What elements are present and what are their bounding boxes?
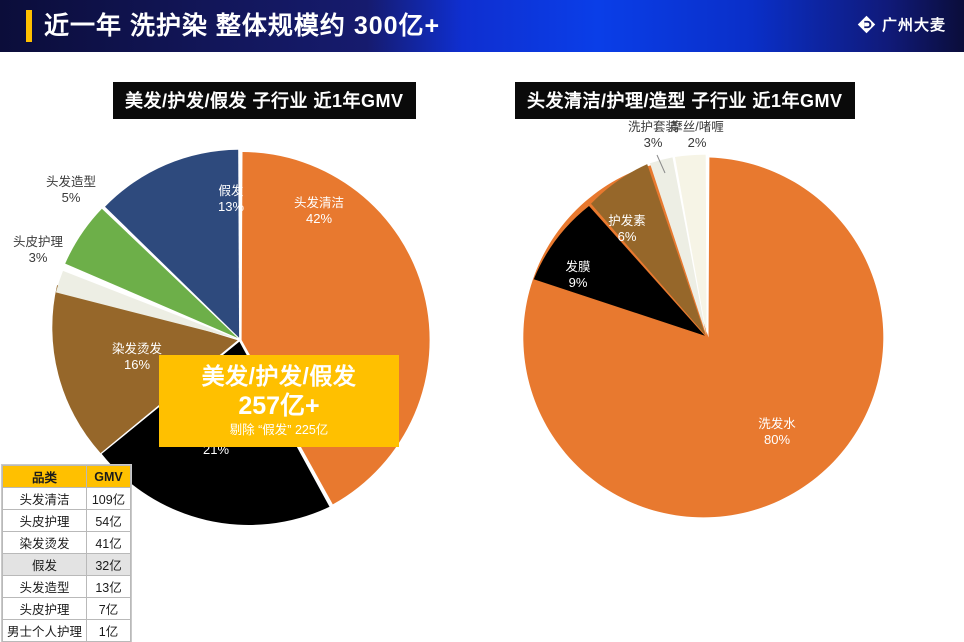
cell-category: 假发	[3, 554, 87, 576]
table-header-row: 品类 GMV	[3, 466, 131, 488]
pie-label-right-3: 洗护套装 3%	[610, 120, 696, 150]
cell-gmv: 13亿	[87, 576, 131, 598]
left-data-table: 品类 GMV 头发清洁 109亿 头皮护理 54亿 染发烫发 41亿	[2, 465, 131, 642]
right-pie-chart: 洗发水 80% 发膜 9% 护发素 6% 洗护套装 3% 摩丝/啫喱 2%	[517, 147, 897, 527]
cell-gmv: 7亿	[87, 598, 131, 620]
page-title: 近一年 洗护染 整体规模约 300亿+	[44, 9, 440, 43]
column-header-category: 品类	[3, 466, 87, 488]
slide-canvas: 近一年 洗护染 整体规模约 300亿+ 广州大麦 美发/护发/假发 子行业 近1…	[0, 0, 964, 543]
brand-logo: 广州大麦	[857, 14, 946, 35]
logo-diamond-icon	[857, 15, 876, 34]
cell-gmv: 32亿	[87, 554, 131, 576]
cell-category: 头发造型	[3, 576, 87, 598]
cell-category: 男士个人护理	[3, 620, 87, 642]
left-chart-panel: 美发/护发/假发 子行业 近1年GMV 头发清洁 42%	[0, 52, 482, 543]
table-row: 假发 32亿	[3, 554, 131, 576]
cell-gmv: 54亿	[87, 510, 131, 532]
cell-category: 头皮护理	[3, 510, 87, 532]
pie-label-right-4: 摩丝/啫喱 2%	[654, 120, 740, 150]
left-chart-title: 美发/护发/假发 子行业 近1年GMV	[113, 82, 416, 119]
cell-category: 头皮护理	[3, 598, 87, 620]
slide-header: 近一年 洗护染 整体规模约 300亿+ 广州大麦	[0, 0, 964, 52]
cell-gmv: 1亿	[87, 620, 131, 642]
right-pie-leader-line	[517, 147, 897, 527]
table-row: 头皮护理 7亿	[3, 598, 131, 620]
table-row: 头皮护理 54亿	[3, 510, 131, 532]
table-row: 男士个人护理 1亿	[3, 620, 131, 642]
right-chart-panel: 头发清洁/护理/造型 子行业 近1年GMV 洗发水 80% 发膜 9%	[482, 52, 964, 543]
column-header-gmv: GMV	[87, 466, 131, 488]
cell-gmv: 109亿	[87, 488, 131, 510]
table-row: 头发清洁 109亿	[3, 488, 131, 510]
cell-category: 头发清洁	[3, 488, 87, 510]
left-callout-line1: 美发/护发/假发	[169, 362, 389, 391]
logo-text: 广州大麦	[882, 14, 946, 35]
table-row: 头发造型 13亿	[3, 576, 131, 598]
left-callout-box: 美发/护发/假发 257亿+ 剔除 “假发” 225亿	[159, 355, 399, 447]
left-callout-line3: 剔除 “假发” 225亿	[169, 421, 389, 439]
left-callout-line2: 257亿+	[169, 391, 389, 421]
right-chart-title: 头发清洁/护理/造型 子行业 近1年GMV	[515, 82, 855, 119]
header-accent-bar	[26, 10, 32, 42]
